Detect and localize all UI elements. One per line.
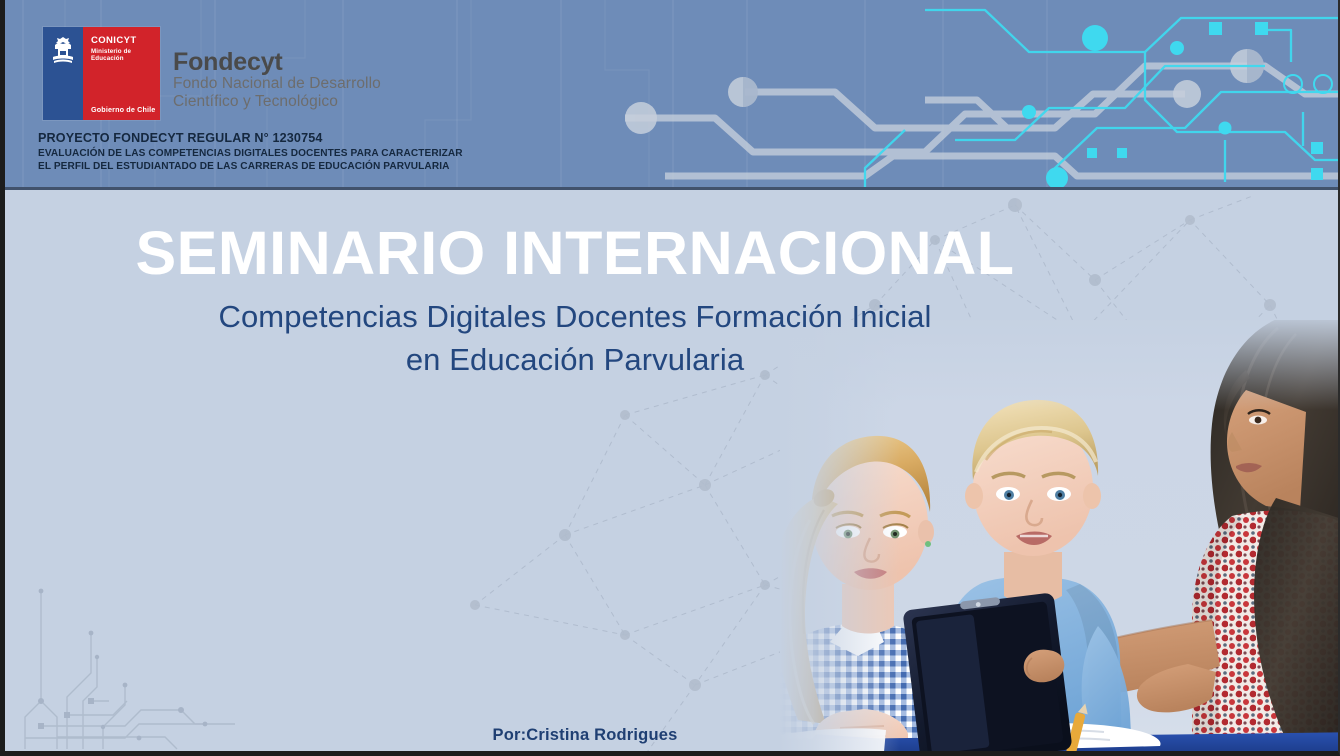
subtitle-line-1: Competencias Digitales Docentes Formació… (5, 296, 1145, 339)
fondecyt-subtitle-line2: Científico y Tecnológico (173, 93, 381, 111)
project-info-block: PROYECTO FONDECYT REGULAR N° 1230754 EVA… (38, 131, 463, 173)
page-title: SEMINARIO INTERNACIONAL (5, 222, 1145, 284)
title-area: SEMINARIO INTERNACIONAL Competencias Dig… (5, 222, 1145, 382)
subtitle-line-2: en Educación Parvularia (5, 339, 1145, 382)
logo-red-panel: CONICYT Ministerio de Educación Gobierno… (83, 27, 160, 120)
fondecyt-subtitle-line1: Fondo Nacional de Desarrollo (173, 75, 381, 93)
classroom-photo (780, 320, 1340, 756)
presenter-credit: Por:Cristina Rodrigues (5, 726, 1165, 745)
presentation-slide: CONICYT Ministerio de Educación Gobierno… (0, 0, 1340, 756)
slide-header-band: CONICYT Ministerio de Educación Gobierno… (5, 0, 1340, 190)
logo-gobierno-label: Gobierno de Chile (91, 105, 155, 114)
circuit-board-decoration (625, 0, 1340, 190)
fondecyt-wordmark: Fondecyt Fondo Nacional de Desarrollo Ci… (173, 50, 381, 110)
project-description-line1: EVALUACIÓN DE LAS COMPETENCIAS DIGITALES… (38, 147, 463, 160)
fondecyt-logo-block: CONICYT Ministerio de Educación Gobierno… (43, 27, 381, 120)
logo-blue-panel (43, 27, 83, 120)
project-description-line2: EL PERFIL DEL ESTUDIANTADO DE LAS CARRER… (38, 160, 463, 173)
classroom-photo-image (780, 320, 1340, 756)
conicyt-government-logo: CONICYT Ministerio de Educación Gobierno… (43, 27, 160, 120)
page-subtitle: Competencias Digitales Docentes Formació… (5, 296, 1145, 382)
fondecyt-name: Fondecyt (173, 50, 381, 75)
logo-conicyt-label: CONICYT (91, 36, 137, 46)
project-code-line: PROYECTO FONDECYT REGULAR N° 1230754 (38, 131, 463, 147)
chile-coat-of-arms-icon (49, 35, 77, 65)
logo-ministerio-label: Ministerio de Educación (91, 48, 160, 62)
